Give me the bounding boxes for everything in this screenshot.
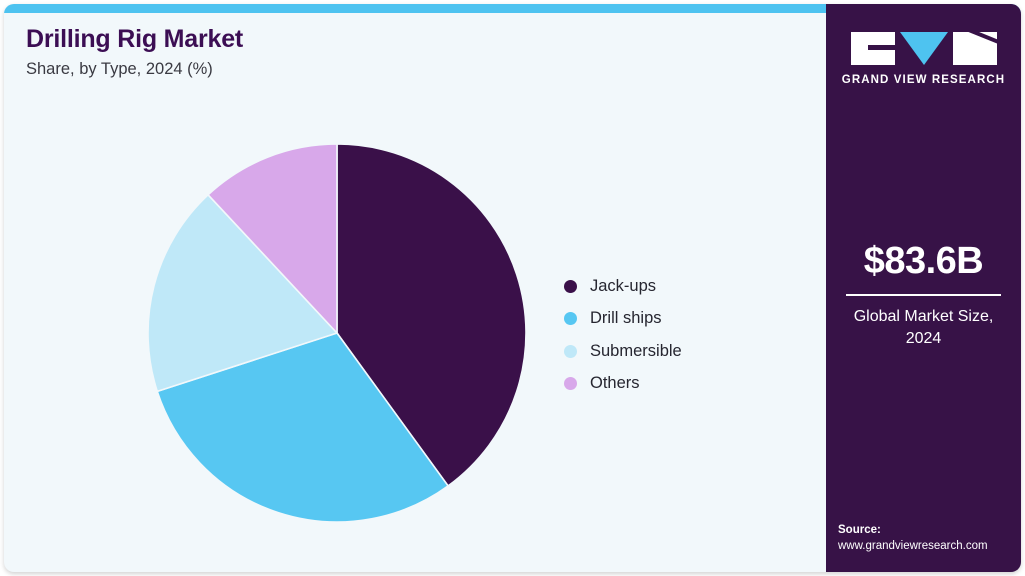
stat-caption: Global Market Size, 2024 bbox=[826, 306, 1021, 349]
legend-swatch-icon bbox=[564, 345, 577, 358]
pie-chart-svg bbox=[134, 130, 540, 536]
legend-item-jack-ups[interactable]: Jack-ups bbox=[564, 270, 682, 303]
stat-divider bbox=[846, 294, 1001, 296]
legend-label: Submersible bbox=[590, 342, 682, 361]
market-size-stat: $83.6B Global Market Size, 2024 bbox=[826, 242, 1021, 349]
source-label: Source: bbox=[838, 522, 1018, 539]
logo-marks bbox=[826, 32, 1021, 65]
legend-item-others[interactable]: Others bbox=[564, 368, 682, 401]
legend-swatch-icon bbox=[564, 312, 577, 325]
legend-label: Others bbox=[590, 374, 640, 393]
logo-letter-g-icon bbox=[851, 32, 895, 65]
source-block: Source: www.grandviewresearch.com bbox=[838, 522, 1018, 555]
infographic-root: Drilling Rig Market Share, by Type, 2024… bbox=[0, 0, 1025, 576]
legend-label: Jack-ups bbox=[590, 277, 656, 296]
legend-swatch-icon bbox=[564, 377, 577, 390]
legend-label: Drill ships bbox=[590, 309, 662, 328]
logo-letter-v-icon bbox=[900, 32, 948, 65]
legend-item-drill-ships[interactable]: Drill ships bbox=[564, 303, 682, 336]
page-subtitle: Share, by Type, 2024 (%) bbox=[26, 60, 626, 80]
infographic-card: Drilling Rig Market Share, by Type, 2024… bbox=[4, 4, 1021, 572]
brand-logo: GRAND VIEW RESEARCH bbox=[826, 32, 1021, 86]
logo-wordmark: GRAND VIEW RESEARCH bbox=[826, 74, 1021, 86]
side-panel: GRAND VIEW RESEARCH $83.6B Global Market… bbox=[826, 4, 1021, 572]
chart-legend: Jack-ups Drill ships Submersible Others bbox=[564, 270, 682, 400]
stat-value: $83.6B bbox=[826, 242, 1021, 280]
pie-slice-group bbox=[148, 144, 526, 522]
legend-item-submersible[interactable]: Submersible bbox=[564, 335, 682, 368]
source-url: www.grandviewresearch.com bbox=[838, 538, 1018, 555]
pie-chart bbox=[134, 130, 540, 536]
page-title: Drilling Rig Market bbox=[26, 26, 626, 54]
legend-swatch-icon bbox=[564, 280, 577, 293]
logo-letter-r-icon bbox=[953, 32, 997, 65]
header: Drilling Rig Market Share, by Type, 2024… bbox=[26, 26, 626, 79]
